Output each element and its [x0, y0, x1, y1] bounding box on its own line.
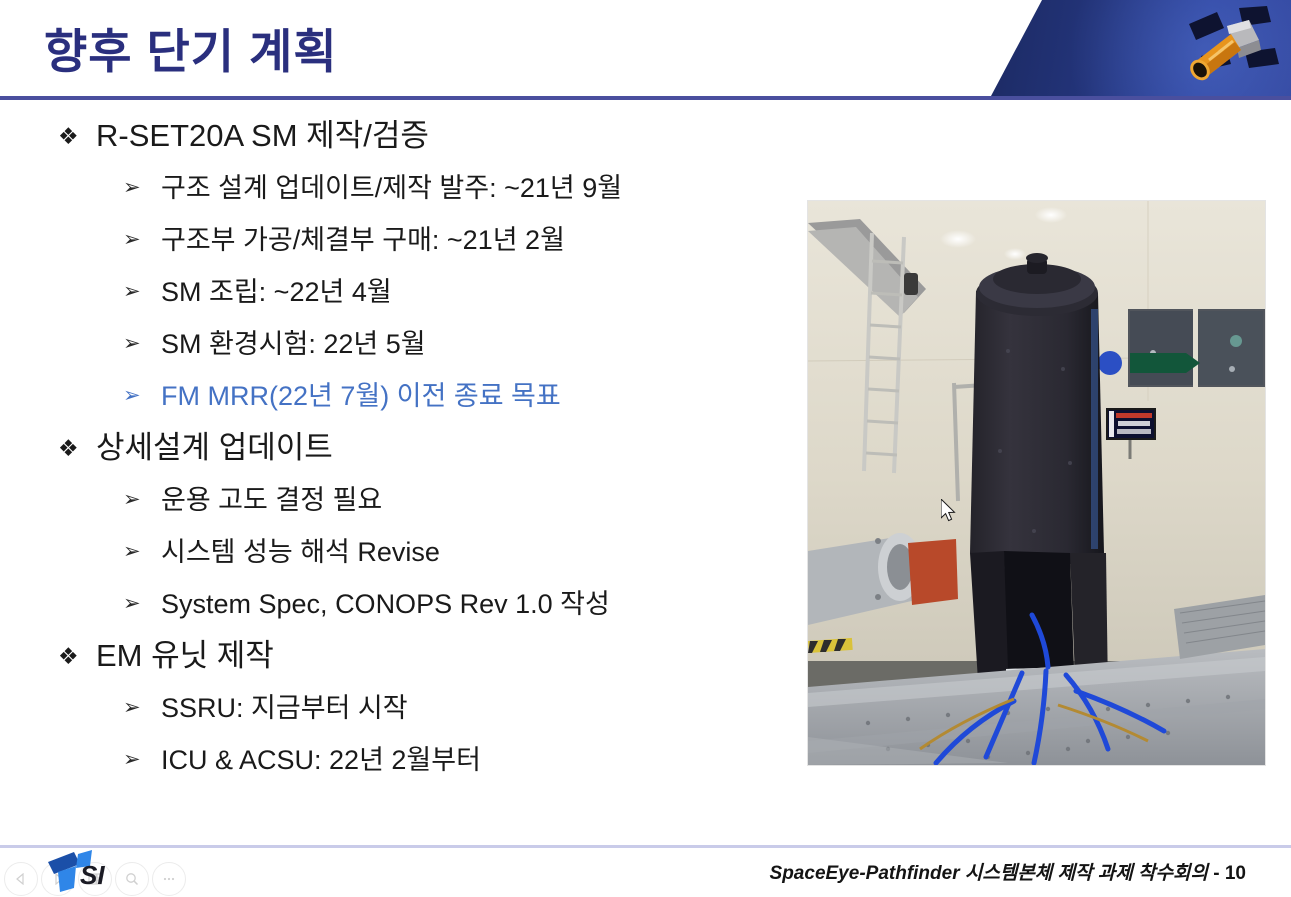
test-facility-photo: [808, 201, 1265, 765]
list-item: ➢ 운용 고도 결정 필요: [123, 476, 800, 528]
slide-header: 향후 단기 계획: [0, 0, 1291, 98]
chevron-left-icon: [15, 873, 27, 885]
footer-page-number: - 10: [1208, 863, 1246, 884]
list-item-text: 시스템 성능 해석 Revise: [161, 528, 440, 576]
list-item: ➢ SM 조립: ~22년 4월: [123, 268, 800, 320]
bullet-marker-arrow-icon: ➢: [123, 164, 161, 212]
list-item-text: FM MRR(22년 7월) 이전 종료 목표: [161, 372, 561, 420]
slide-title: 향후 단기 계획: [44, 24, 338, 80]
bullet-marker-arrow-icon: ➢: [123, 320, 161, 368]
slide-canvas: 향후 단기 계획 ❖ R-SET20A SM 제작/검증 ➢ 구조 설계 업데이…: [0, 0, 1291, 897]
list-item-text: ICU & ACSU: 22년 2월부터: [161, 736, 481, 784]
list-item-highlighted: ➢ FM MRR(22년 7월) 이전 종료 목표: [123, 372, 800, 424]
bullet-marker-arrow-icon: ➢: [123, 736, 161, 784]
list-item: ➢ SSRU: 지금부터 시작: [123, 684, 800, 736]
list-item-text: 구조 설계 업데이트/제작 발주: ~21년 9월: [161, 164, 622, 212]
list-item: ❖ EM 유닛 제작: [58, 632, 800, 684]
footer-divider: [0, 845, 1291, 848]
list-item-text: SM 조립: ~22년 4월: [161, 268, 392, 316]
list-item-text: SSRU: 지금부터 시작: [161, 684, 408, 732]
list-item: ➢ System Spec, CONOPS Rev 1.0 작성: [123, 580, 800, 632]
list-item: ➢ 시스템 성능 해석 Revise: [123, 528, 800, 580]
bullet-marker-diamond-icon: ❖: [58, 112, 96, 160]
previous-slide-button[interactable]: [4, 862, 38, 896]
bullet-list: ❖ R-SET20A SM 제작/검증 ➢ 구조 설계 업데이트/제작 발주: …: [0, 112, 800, 812]
footer-project-name: SpaceEye-Pathfinder: [770, 863, 960, 884]
list-item-text: R-SET20A SM 제작/검증: [96, 112, 429, 160]
bullet-marker-arrow-icon: ➢: [123, 216, 161, 264]
list-item-text: EM 유닛 제작: [96, 632, 274, 680]
list-item-text: SM 환경시험: 22년 5월: [161, 320, 426, 368]
list-item-text: 구조부 가공/체결부 구매: ~21년 2월: [161, 216, 565, 264]
bullet-marker-arrow-icon: ➢: [123, 684, 161, 732]
bullet-marker-arrow-icon: ➢: [123, 580, 161, 628]
list-item: ➢ 구조 설계 업데이트/제작 발주: ~21년 9월: [123, 164, 800, 216]
satellite-icon: [1179, 4, 1283, 96]
si-logo-text: SI: [80, 860, 105, 890]
more-options-button[interactable]: [152, 862, 186, 896]
footer-description: 시스템본체 제작 과제 착수회의: [960, 863, 1208, 884]
list-item: ❖ R-SET20A SM 제작/검증: [58, 112, 800, 164]
si-logo: SI: [40, 848, 130, 896]
bullet-marker-diamond-icon: ❖: [58, 632, 96, 680]
footer-caption: SpaceEye-Pathfinder 시스템본체 제작 과제 착수회의 - 1…: [770, 858, 1246, 885]
ellipsis-icon: [162, 872, 176, 886]
bullet-marker-arrow-icon: ➢: [123, 528, 161, 576]
bullet-marker-arrow-icon: ➢: [123, 372, 161, 420]
list-item: ➢ ICU & ACSU: 22년 2월부터: [123, 736, 800, 788]
list-item-text: 상세설계 업데이트: [96, 424, 333, 472]
header-divider: [0, 96, 1291, 100]
list-item-text: 운용 고도 결정 필요: [161, 476, 382, 524]
bullet-marker-diamond-icon: ❖: [58, 424, 96, 472]
list-item-text: System Spec, CONOPS Rev 1.0 작성: [161, 580, 610, 628]
bullet-marker-arrow-icon: ➢: [123, 268, 161, 316]
list-item: ➢ SM 환경시험: 22년 5월: [123, 320, 800, 372]
list-item: ❖ 상세설계 업데이트: [58, 424, 800, 476]
list-item: ➢ 구조부 가공/체결부 구매: ~21년 2월: [123, 216, 800, 268]
bullet-marker-arrow-icon: ➢: [123, 476, 161, 524]
